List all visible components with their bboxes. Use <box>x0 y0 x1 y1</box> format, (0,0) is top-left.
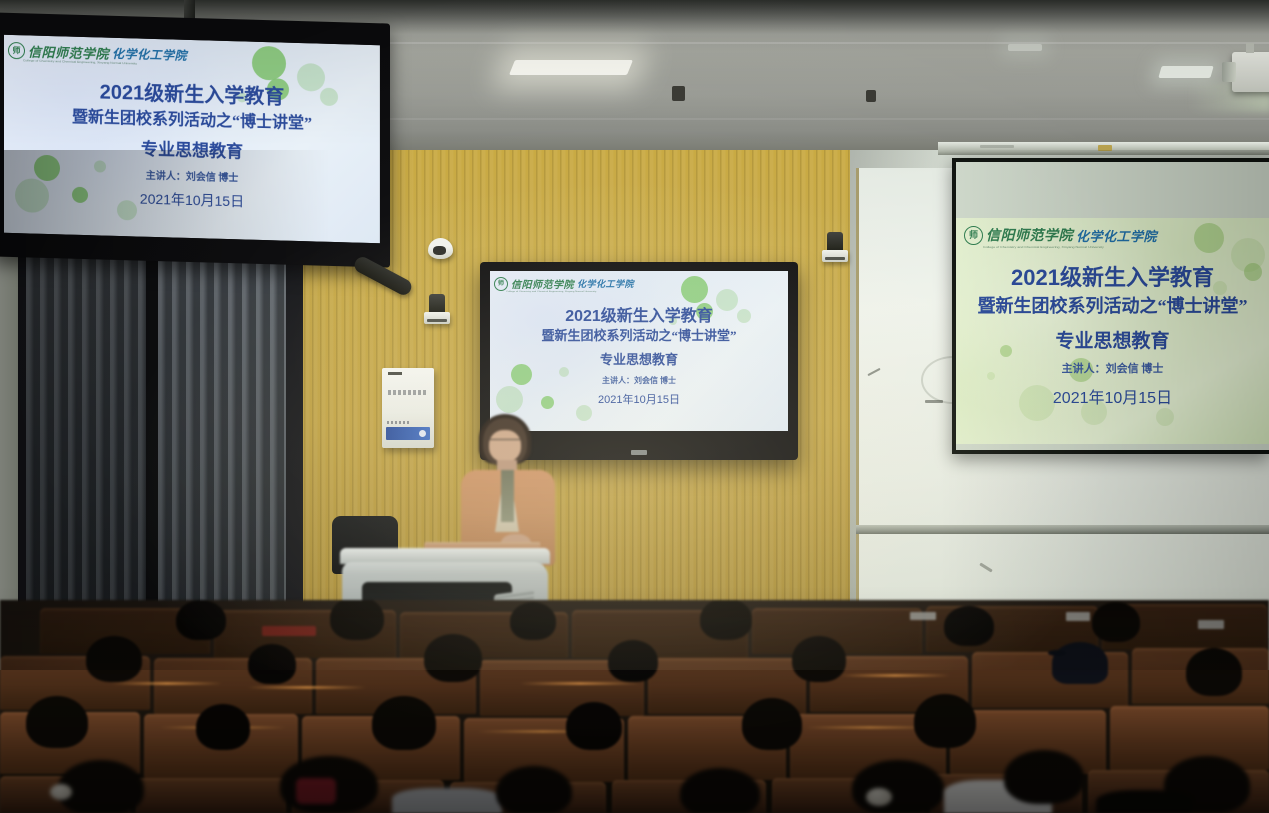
audience-head <box>852 760 944 813</box>
seat-highlight <box>112 682 222 685</box>
slide-right: 师 信阳师范学院 化学化工学院 College of Chemistry and… <box>956 218 1269 444</box>
audience-head <box>176 600 226 640</box>
slide-date-line: 2021年10月15日 <box>490 391 788 407</box>
slide-title-line-1: 2021级新生入学教育 <box>956 260 1269 292</box>
slide-title-line-1: 2021级新生入学教育 <box>490 302 788 326</box>
slide-title-line-3: 专业思想教育 <box>956 326 1269 353</box>
seat <box>136 778 286 813</box>
hair-scrunchie <box>866 788 892 806</box>
center-tv-panel: 师 信阳师范学院 化学化工学院 College of Chemistry and… <box>490 271 788 431</box>
screen-housing-clip <box>1098 145 1112 151</box>
audience-head <box>608 640 658 682</box>
audience-head <box>1186 648 1242 696</box>
audience-head <box>1092 602 1140 642</box>
ptz-camera-body <box>822 250 848 262</box>
slide-date-line: 2021年10月15日 <box>956 384 1269 408</box>
screen-housing-label <box>980 145 1014 148</box>
slide-title-line-3: 专业思想教育 <box>4 131 380 167</box>
window-curtain-assembly <box>18 248 303 608</box>
university-name-cn: 信阳师范学院 <box>511 276 574 291</box>
seat-highlight <box>840 674 950 677</box>
whiteboard-mark <box>979 563 992 573</box>
seat-highlight <box>248 686 366 689</box>
audience-head <box>86 636 142 682</box>
ceiling-light-panel <box>1008 44 1042 51</box>
glasses-icon <box>489 439 521 446</box>
projection-screen-housing <box>938 142 1269 155</box>
audience-head <box>700 600 752 640</box>
desk-edge <box>262 626 316 636</box>
curtain-panel <box>158 248 286 608</box>
slide-left: 师 信阳师范学院 化学化工学院 College of Chemistry and… <box>4 35 380 244</box>
hair-accessory <box>296 778 336 804</box>
seat-number-plate <box>1198 620 1224 629</box>
university-seal-icon: 师 <box>964 226 983 245</box>
dome-camera-icon <box>428 238 453 259</box>
projector-lens <box>1222 62 1236 82</box>
hair-scrunchie <box>50 784 72 800</box>
cap-visor <box>1048 650 1066 656</box>
audience-area <box>0 600 1269 813</box>
audience-head <box>330 600 384 640</box>
university-seal-icon: 师 <box>8 42 25 59</box>
dome-camera-lens <box>433 246 446 255</box>
ceiling-projector-icon <box>1232 52 1269 92</box>
seat-number-plate <box>910 612 936 620</box>
ptz-camera-icon <box>424 294 450 324</box>
curtain-panel <box>26 248 148 608</box>
slide-center: 师 信阳师范学院 化学化工学院 College of Chemistry and… <box>490 271 788 431</box>
slide-speaker-line: 主讲人：刘会信 博士 <box>4 163 380 189</box>
left-tv-panel: 师 信阳师范学院 化学化工学院 College of Chemistry and… <box>4 35 380 244</box>
projection-surface: 师 信阳师范学院 化学化工学院 College of Chemistry and… <box>956 162 1269 450</box>
audience-head <box>566 702 622 750</box>
audience-head <box>914 694 976 748</box>
slide-speaker-line: 主讲人：刘会信 博士 <box>490 375 788 386</box>
projector-mount <box>1246 43 1254 53</box>
whiteboard-mark <box>867 368 880 376</box>
ptz-camera-strip <box>825 257 845 260</box>
audience-head <box>58 760 144 813</box>
university-name-cn: 信阳师范学院 <box>986 225 1073 245</box>
ceiling-sensor <box>672 86 685 101</box>
ptz-camera-head <box>827 232 843 252</box>
audience-head <box>496 766 572 813</box>
audience-shoulders <box>1096 790 1192 813</box>
audience-head <box>680 768 760 813</box>
ptz-camera-icon <box>822 232 848 262</box>
control-panel-indicator <box>386 427 430 440</box>
presenter-face <box>489 430 521 462</box>
ptz-camera-strip <box>427 319 447 322</box>
lecture-hall-photo: 师 信阳师范学院 化学化工学院 College of Chemistry and… <box>0 0 1269 813</box>
slide-speaker-line: 主讲人：刘会信 博士 <box>956 360 1269 376</box>
audience-head <box>26 696 88 748</box>
audience-shoulders <box>392 788 502 813</box>
slide-title-line-3: 专业思想教育 <box>490 349 788 368</box>
audience-head <box>248 644 296 684</box>
audience-head <box>510 602 556 640</box>
whiteboard-tray <box>856 525 1269 534</box>
audience-head <box>792 636 846 682</box>
logo-english-line: College of Chemistry and Chemical Engine… <box>506 290 596 292</box>
audience-head <box>372 696 436 750</box>
right-projection-screen: 师 信阳师范学院 化学化工学院 College of Chemistry and… <box>952 158 1269 454</box>
college-name-cn: 化学化工学院 <box>577 277 634 290</box>
control-panel-label <box>388 390 428 395</box>
audience-head <box>944 606 994 646</box>
university-seal-icon: 师 <box>494 277 508 291</box>
seat-number-plate <box>1066 612 1090 621</box>
ptz-camera-body <box>424 312 450 324</box>
presenter-scarf <box>501 470 514 522</box>
left-ceiling-tv: 师 信阳师范学院 化学化工学院 College of Chemistry and… <box>0 12 390 267</box>
audience-head <box>424 634 482 682</box>
slide-title-line-2: 暨新生团校系列活动之“博士讲堂” <box>956 292 1269 318</box>
control-panel-ticks <box>387 421 409 424</box>
projected-slide-area: 师 信阳师范学院 化学化工学院 College of Chemistry and… <box>956 218 1269 444</box>
college-name-cn: 化学化工学院 <box>1076 226 1157 245</box>
control-panel-slot <box>388 372 402 375</box>
audience-head <box>1004 750 1084 804</box>
tv-brand-logo <box>631 450 647 455</box>
slide-date-line: 2021年10月15日 <box>4 185 380 216</box>
ceiling-light-panel <box>509 60 633 75</box>
ptz-camera-head <box>429 294 445 314</box>
logo-english-line: College of Chemistry and Chemical Engine… <box>983 245 1104 248</box>
audience-head <box>196 704 250 750</box>
audience-cap <box>1052 642 1108 684</box>
audience-head <box>742 698 802 750</box>
whiteboard-mark <box>925 400 943 403</box>
ceiling-light-panel <box>1158 66 1213 78</box>
slide-title-line-2: 暨新生团校系列活动之“博士讲堂” <box>490 325 788 344</box>
seat-highlight <box>520 682 640 685</box>
wall-control-panel[interactable] <box>382 368 434 448</box>
ceiling-sensor <box>866 90 876 102</box>
